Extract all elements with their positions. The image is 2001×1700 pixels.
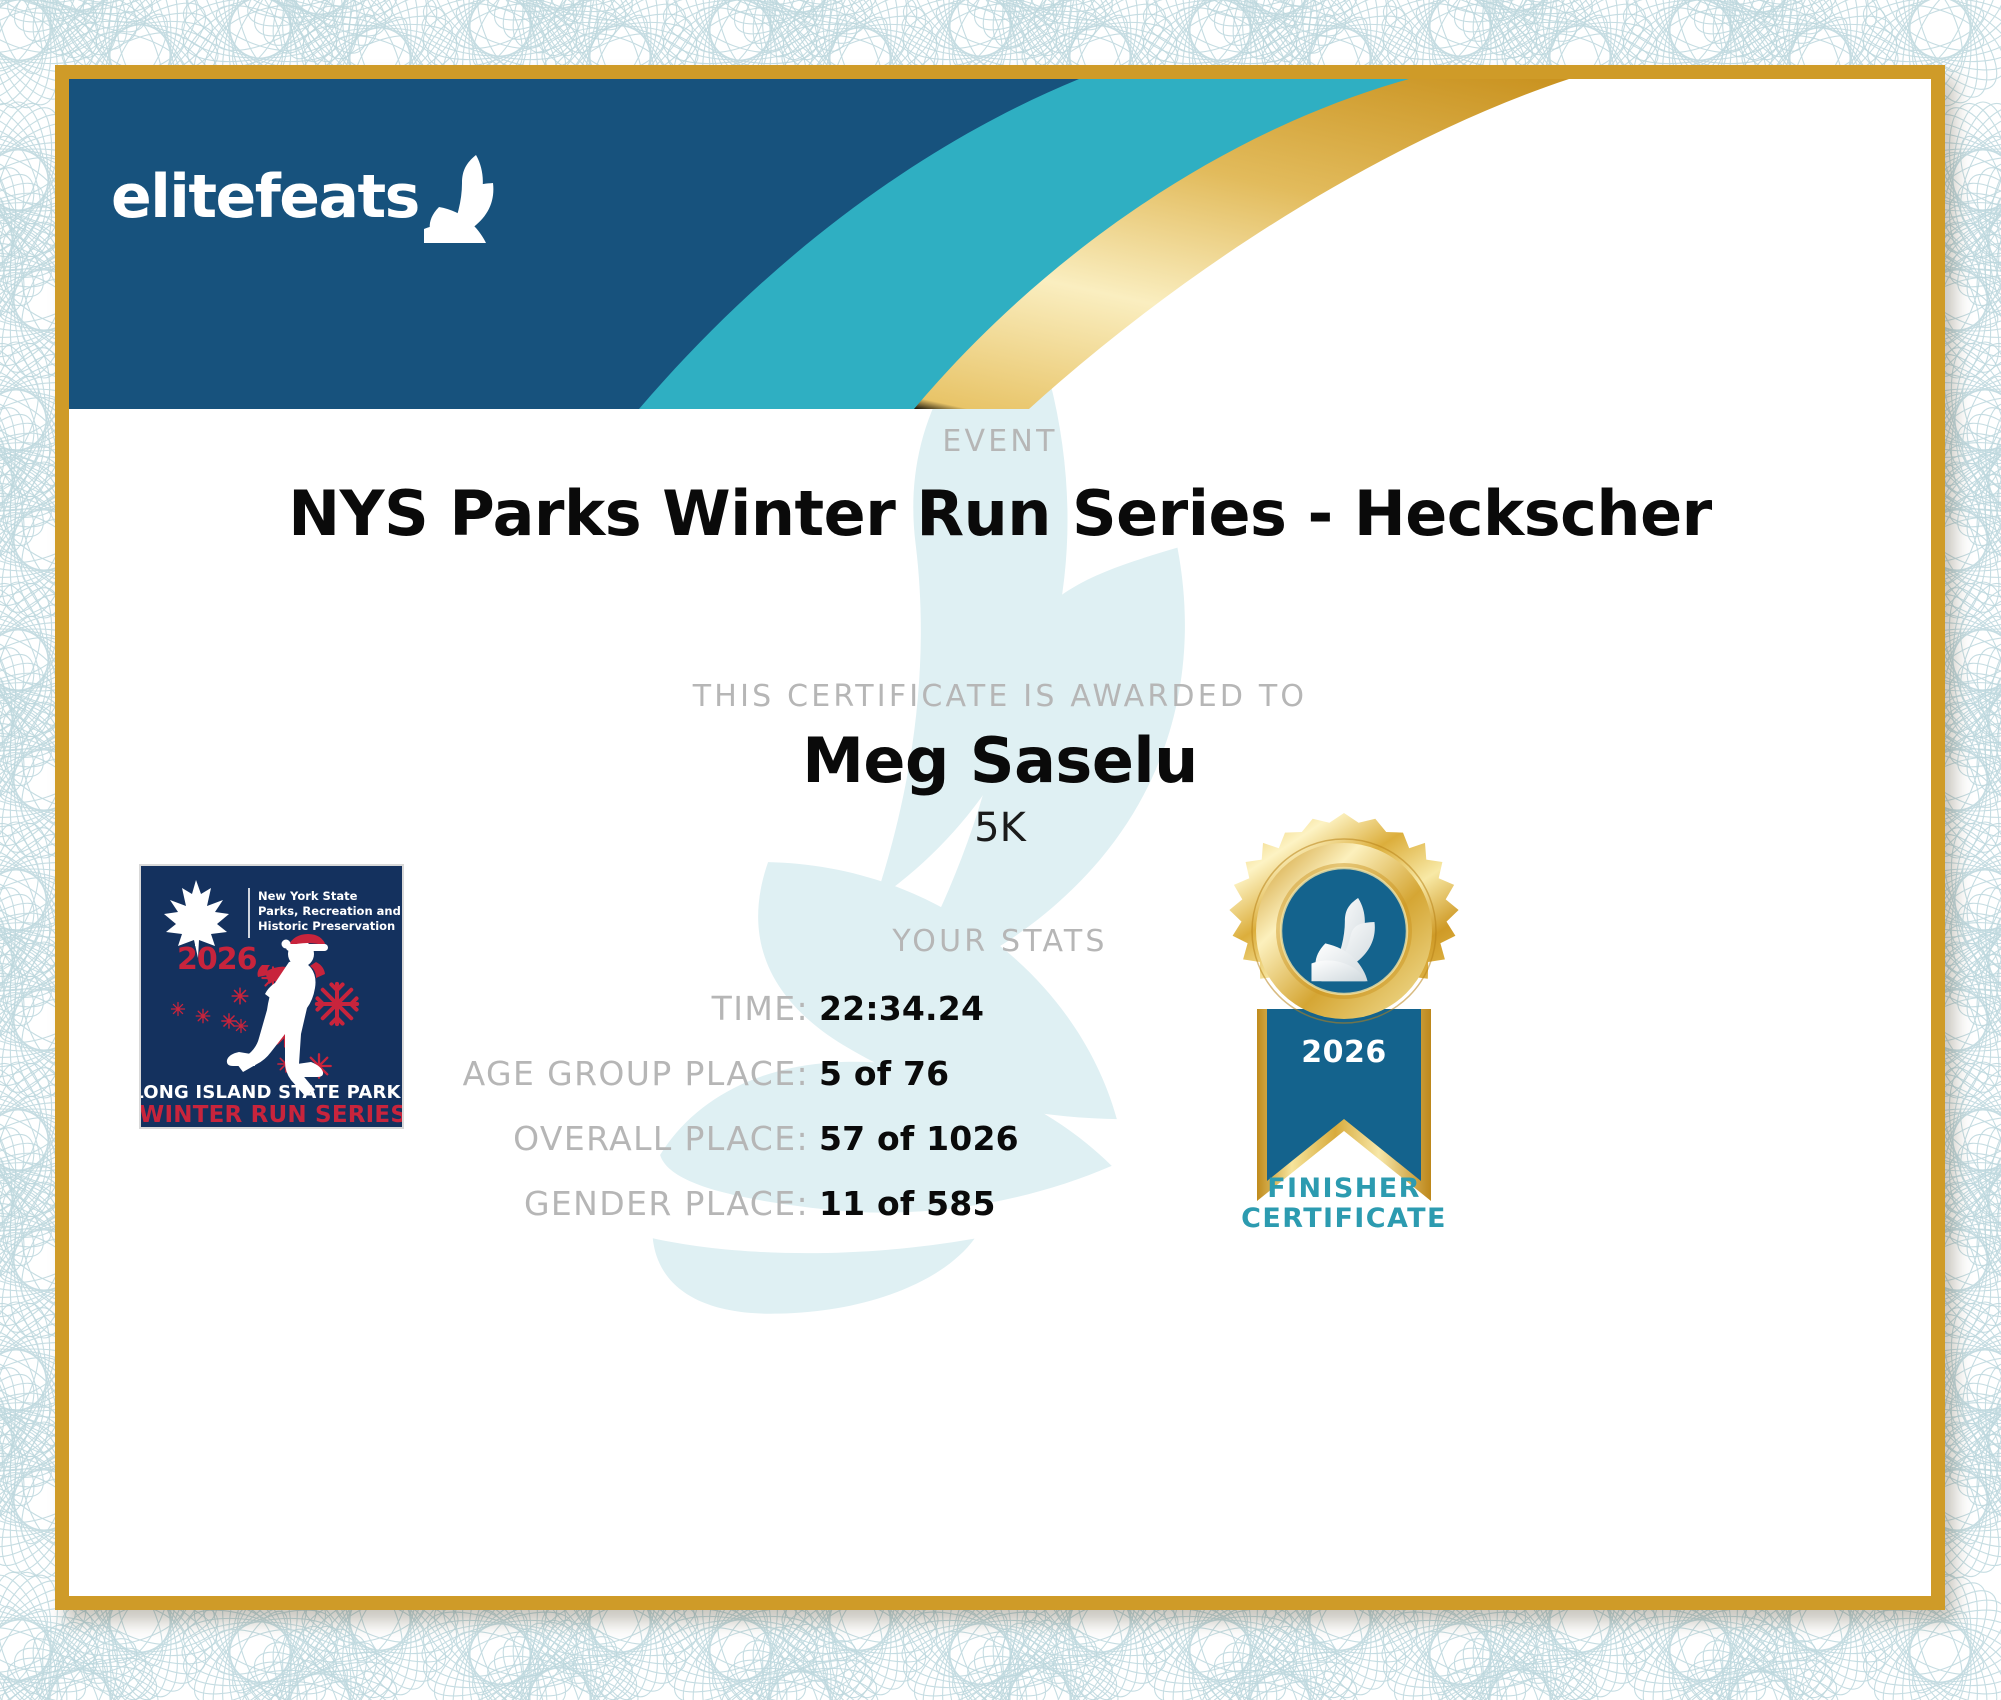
svg-text:LONG ISLAND STATE PARKS: LONG ISLAND STATE PARKS	[141, 1082, 404, 1103]
stat-row-gender-place: GENDER PLACE: 11 of 585	[369, 1184, 1169, 1223]
event-label: EVENT	[69, 424, 1931, 459]
winged-foot-icon	[421, 151, 499, 243]
svg-text:New York State: New York State	[258, 889, 358, 903]
svg-text:2026: 2026	[1301, 1035, 1387, 1070]
svg-text:Historic Preservation: Historic Preservation	[258, 919, 395, 933]
finisher-caption: FINISHER CERTIFICATE	[1179, 1174, 1509, 1234]
event-logo-badge: New York State Parks, Recreation and His…	[139, 864, 404, 1129]
finisher-caption-line2: CERTIFICATE	[1179, 1204, 1509, 1234]
stat-label-overall-place: OVERALL PLACE:	[369, 1119, 809, 1158]
svg-text:Parks, Recreation and: Parks, Recreation and	[258, 904, 401, 918]
stat-row-overall-place: OVERALL PLACE: 57 of 1026	[369, 1119, 1169, 1158]
brand-wordmark: elitefeats	[111, 162, 419, 232]
stat-row-age-group-place: AGE GROUP PLACE: 5 of 76	[369, 1054, 1169, 1093]
event-title: NYS Parks Winter Run Series - Heckscher	[69, 477, 1931, 550]
stat-label-gender-place: GENDER PLACE:	[369, 1184, 809, 1223]
stat-label-age-group-place: AGE GROUP PLACE:	[369, 1054, 809, 1093]
recipient-distance: 5K	[69, 805, 1931, 851]
stat-value-time: 22:34.24	[819, 989, 984, 1028]
stat-value-age-group-place: 5 of 76	[819, 1054, 949, 1093]
stat-row-time: TIME: 22:34.24	[369, 989, 1169, 1028]
stats-table: TIME: 22:34.24 AGE GROUP PLACE: 5 of 76 …	[369, 989, 1169, 1249]
winter-run-series-badge-art: New York State Parks, Recreation and His…	[141, 866, 404, 1129]
awarded-to-label: THIS CERTIFICATE IS AWARDED TO	[69, 679, 1931, 714]
svg-text:WINTER RUN SERIES: WINTER RUN SERIES	[141, 1102, 404, 1128]
finisher-caption-line1: FINISHER	[1179, 1174, 1509, 1204]
stat-label-time: TIME:	[369, 989, 809, 1028]
svg-text:2026: 2026	[177, 942, 257, 977]
header-banner-art	[69, 79, 1931, 409]
stat-value-overall-place: 57 of 1026	[819, 1119, 1019, 1158]
recipient-name: Meg Saselu	[69, 724, 1931, 797]
certificate-frame: elitefeats EVENT NYS Parks Winter Run Se…	[55, 65, 1945, 1610]
stat-value-gender-place: 11 of 585	[819, 1184, 996, 1223]
elitefeats-logo: elitefeats	[111, 151, 499, 243]
